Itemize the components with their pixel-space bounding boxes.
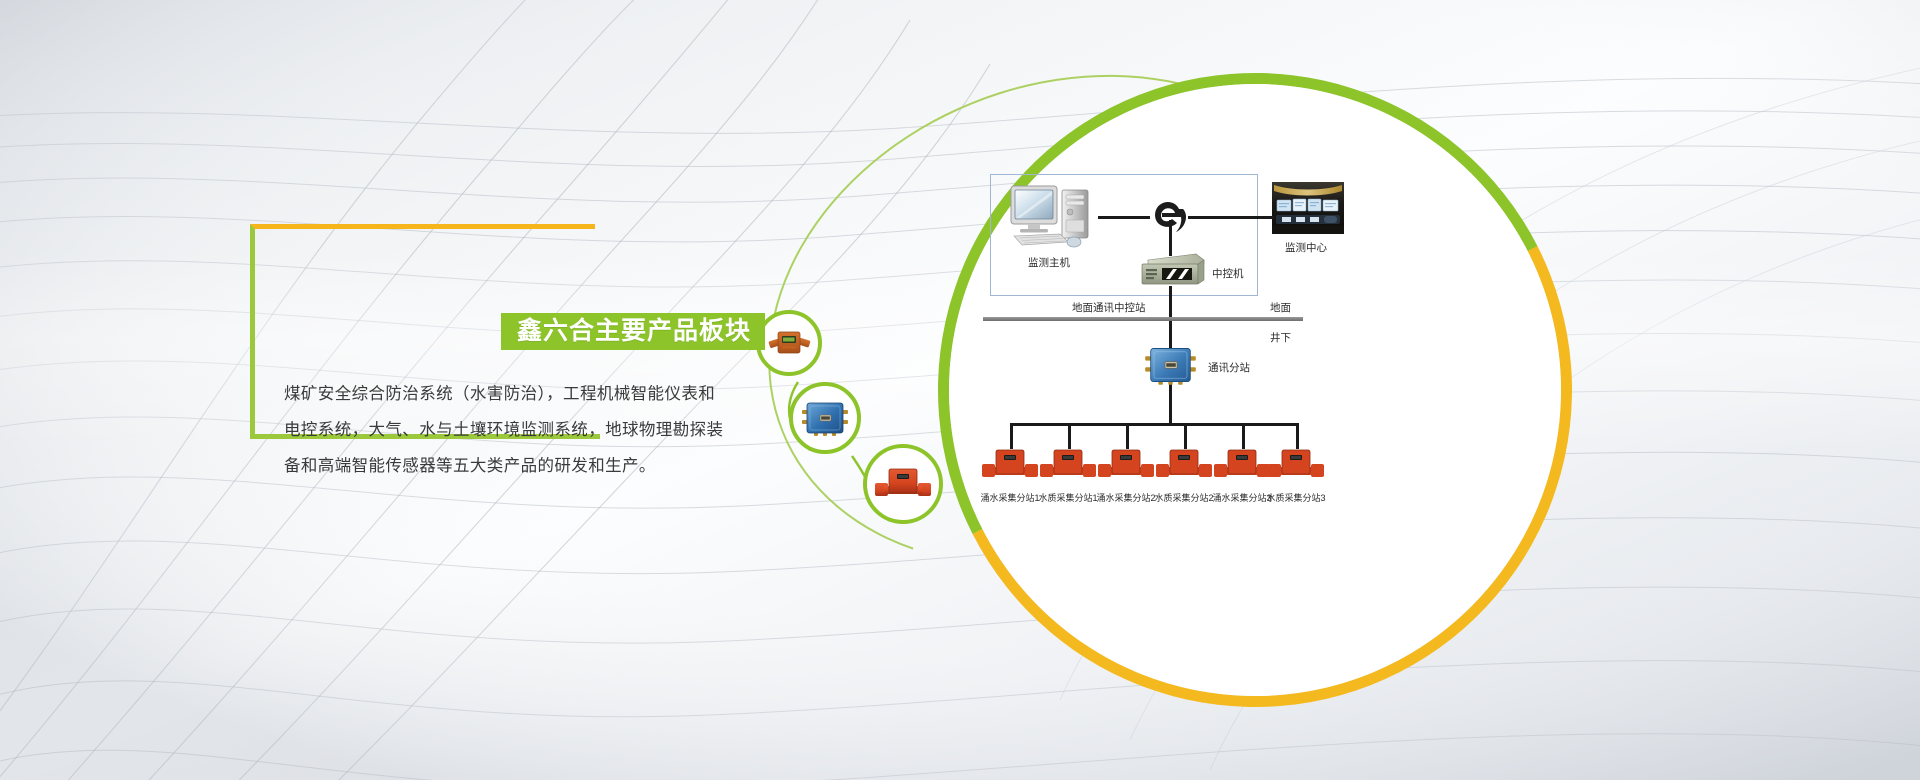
wire-net-to-center — [1188, 216, 1274, 219]
wire-net-to-controller — [1169, 220, 1172, 256]
red-flow-sensor-icon — [1097, 446, 1155, 484]
wire-host-to-net — [1098, 216, 1150, 219]
page-title-text: 鑫六合主要产品板块 — [517, 319, 751, 344]
red-flow-sensor-icon — [981, 446, 1039, 484]
node-central-controller[interactable] — [1140, 252, 1206, 295]
label-zone-surface: 地面 — [1270, 300, 1291, 315]
substation-label: 水质采集分站3 — [1261, 491, 1331, 504]
product-bubble-controller[interactable] — [756, 310, 822, 376]
wire-substation-down — [1169, 387, 1172, 425]
red-flow-sensor-icon — [874, 465, 932, 503]
label-zone-underground: 井下 — [1270, 330, 1291, 345]
substation-row: 涌水采集分站1 水质采集分站1 涌水采集分站2 — [980, 446, 1360, 506]
rack-server-icon — [1140, 252, 1206, 290]
banner-stage: 鑫六合主要产品板块 煤矿安全综合防治系统（水害防治），工程机械智能仪表和 电控系… — [0, 0, 1920, 780]
label-comm-substation: 通讯分站 — [1208, 360, 1250, 375]
control-room-icon — [1272, 182, 1344, 234]
label-surface-station: 地面通讯中控站 — [1072, 300, 1146, 315]
node-monitor-host[interactable] — [1008, 182, 1096, 257]
node-comm-substation[interactable] — [1143, 343, 1198, 392]
node-monitoring-center[interactable] — [1272, 182, 1344, 239]
body-line-1: 煤矿安全综合防治系统（水害防治），工程机械智能仪表和 — [284, 376, 844, 412]
red-flow-sensor-icon — [1039, 446, 1097, 484]
desktop-computer-icon — [1008, 182, 1096, 252]
substation-quality-3[interactable]: 水质采集分站3 — [1261, 446, 1331, 502]
product-bubble-flow-sensor[interactable] — [863, 444, 943, 524]
body-copy: 煤矿安全综合防治系统（水害防治），工程机械智能仪表和 电控系统，大气、水与土壤环… — [284, 376, 844, 484]
ground-level-line — [983, 317, 1303, 321]
label-monitoring-center: 监测中心 — [1285, 240, 1327, 255]
label-monitor-host: 监测主机 — [1028, 255, 1070, 270]
page-title: 鑫六合主要产品板块 — [501, 313, 765, 350]
label-central-controller: 中控机 — [1212, 266, 1244, 281]
blue-junction-box-icon — [1143, 343, 1198, 387]
red-flow-sensor-icon — [1155, 446, 1213, 484]
body-line-2: 电控系统，大气、水与土壤环境监测系统，地球物理勘探装 — [284, 412, 844, 448]
red-flow-sensor-icon — [1267, 446, 1325, 484]
wire-bus-bar — [1010, 423, 1298, 426]
orange-controller-icon — [766, 328, 812, 358]
body-line-3: 备和高端智能传感器等五大类产品的研发和生产。 — [284, 448, 844, 484]
topology-diagram: 监测主机 — [980, 160, 1540, 580]
